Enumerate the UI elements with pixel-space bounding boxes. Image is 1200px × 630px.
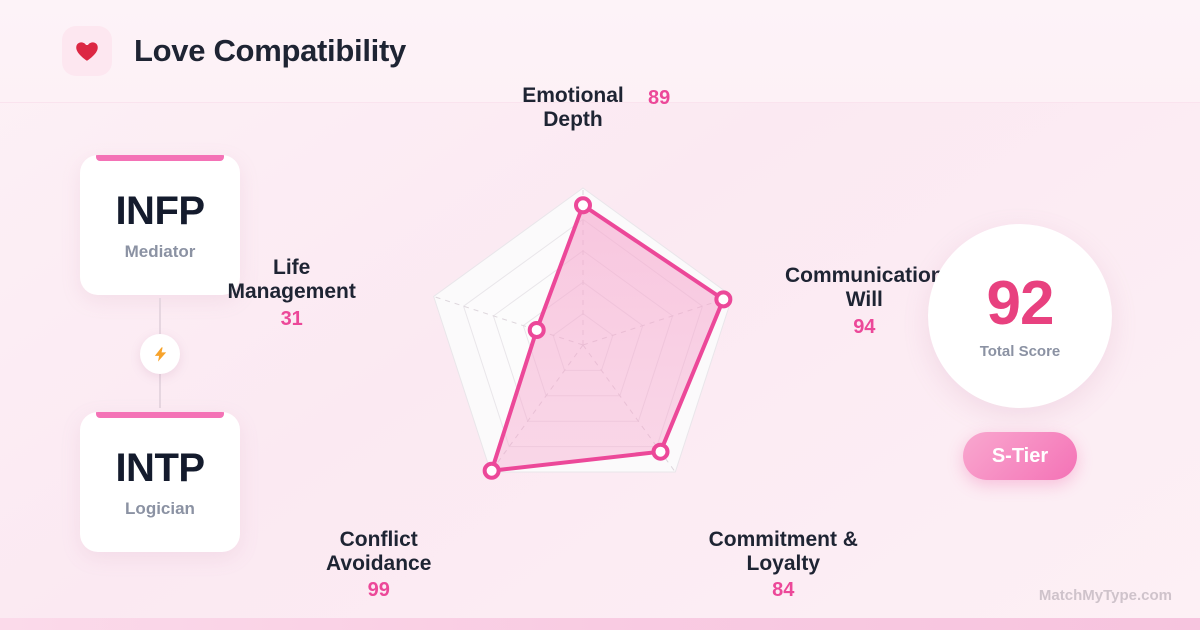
total-score-value: 92: [987, 273, 1054, 335]
type-code: INFP: [115, 189, 204, 234]
total-score-circle: 92 Total Score: [928, 224, 1112, 408]
radar-data-point: [530, 323, 544, 337]
page-title: Love Compatibility: [134, 33, 406, 69]
radar-data-point: [654, 445, 668, 459]
personality-card-second[interactable]: INTP Logician: [80, 412, 240, 552]
radar-chart-svg: [268, 108, 908, 608]
radar-chart: EmotionalDepth89CommunicationWill94Commi…: [268, 108, 908, 608]
lightning-bolt-icon: [140, 334, 180, 374]
bottom-accent-bar: [0, 618, 1200, 630]
type-name: Mediator: [125, 242, 196, 262]
radar-data-point: [576, 198, 590, 212]
type-code: INTP: [115, 446, 204, 491]
page-header: Love Compatibility: [0, 0, 1200, 103]
radar-data-point: [716, 292, 730, 306]
total-score-caption: Total Score: [980, 343, 1061, 360]
personality-card-first[interactable]: INFP Mediator: [80, 155, 240, 295]
tier-badge: S-Tier: [963, 432, 1077, 480]
radar-data-point: [485, 464, 499, 478]
type-name: Logician: [125, 499, 195, 519]
heart-icon: [62, 26, 112, 76]
watermark: MatchMyType.com: [1039, 587, 1172, 604]
